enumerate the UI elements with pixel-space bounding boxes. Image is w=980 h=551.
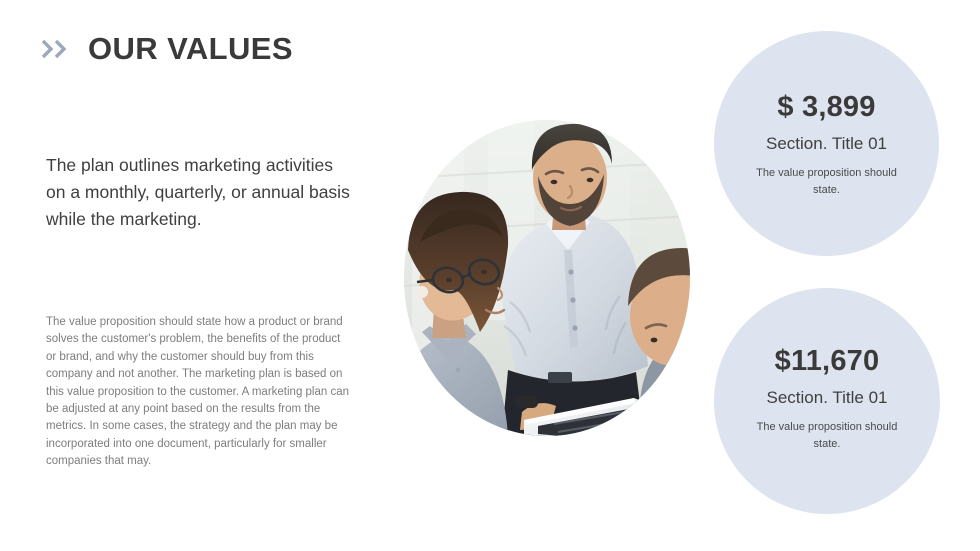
slide-canvas: OUR VALUES The plan outlines marketing a…	[0, 0, 980, 551]
stat-amount-1: $ 3,899	[777, 92, 875, 122]
stat-description-2: The value proposition should state.	[748, 419, 906, 452]
lead-paragraph: The plan outlines marketing activities o…	[46, 152, 356, 233]
page-title: OUR VALUES	[88, 33, 293, 64]
stat-circle-2[interactable]: $11,670 Section. Title 01 The value prop…	[714, 288, 940, 514]
stat-description-1: The value proposition should state.	[748, 165, 906, 198]
team-photo	[404, 120, 690, 436]
double-chevron-right-icon	[40, 36, 74, 62]
slide-header: OUR VALUES	[40, 33, 293, 64]
stat-title-1: Section. Title 01	[766, 135, 887, 154]
stat-title-2: Section. Title 01	[767, 389, 888, 408]
stat-circle-1[interactable]: $ 3,899 Section. Title 01 The value prop…	[714, 31, 939, 256]
body-paragraph: The value proposition should state how a…	[46, 314, 351, 471]
stat-amount-2: $11,670	[775, 346, 880, 376]
